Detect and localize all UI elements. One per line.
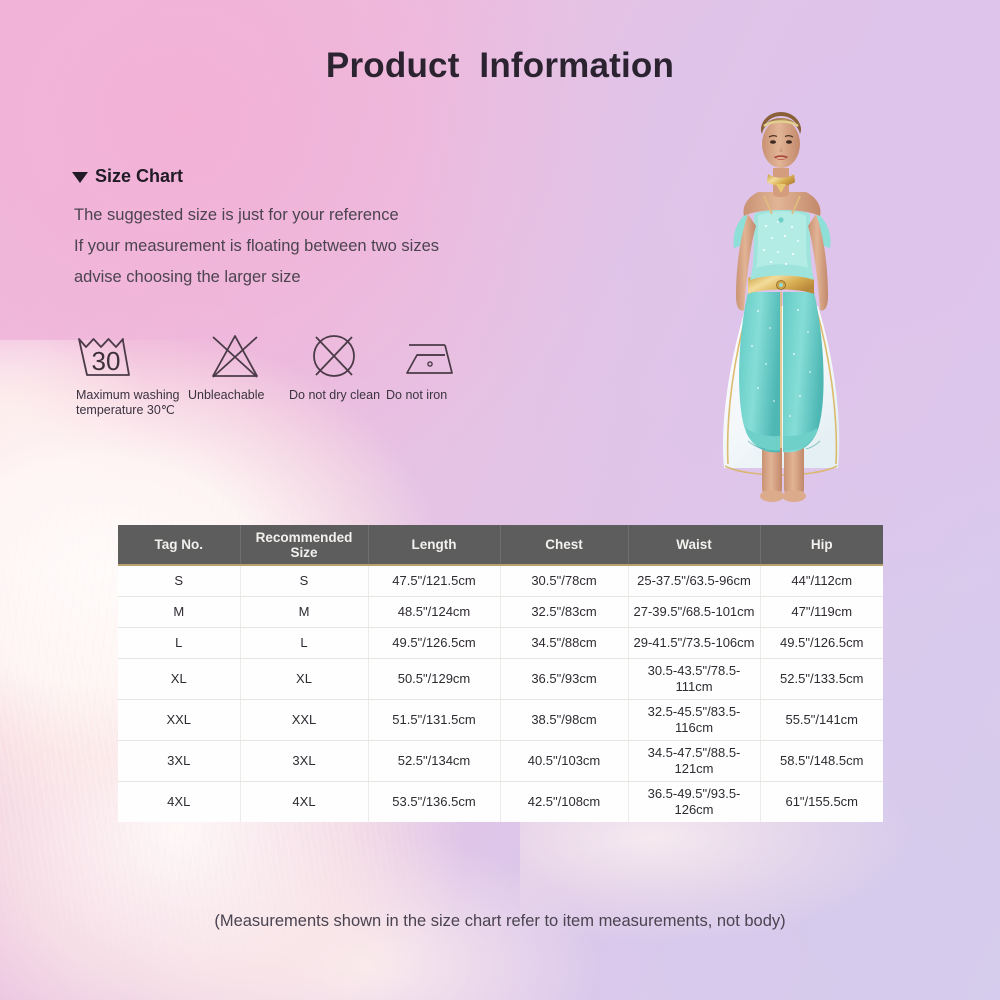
- care-symbol-label: Do not iron: [386, 388, 486, 403]
- cell-chest: 42.5"/108cm: [500, 781, 628, 822]
- cell-chest: 34.5"/88cm: [500, 627, 628, 658]
- product-model-image: [688, 96, 874, 516]
- svg-text:30: 30: [92, 346, 121, 376]
- caret-down-icon: [72, 172, 88, 183]
- column-header-chest: Chest: [500, 525, 628, 565]
- table-row: L L 49.5"/126.5cm 34.5"/88cm 29-41.5"/73…: [118, 627, 883, 658]
- care-symbol-label: Unbleachable: [188, 388, 289, 403]
- cell-waist: 34.5-47.5"/88.5-121cm: [628, 740, 760, 781]
- table-header-row: Tag No. Recommended Size Length Chest Wa…: [118, 525, 883, 565]
- size-chart-table-container: Tag No. Recommended Size Length Chest Wa…: [118, 525, 883, 822]
- table-row: S S 47.5"/121.5cm 30.5"/78cm 25-37.5"/63…: [118, 565, 883, 596]
- cell-waist: 32.5-45.5"/83.5-116cm: [628, 699, 760, 740]
- note-line: advise choosing the larger size: [74, 262, 634, 293]
- cell-length: 52.5"/134cm: [368, 740, 500, 781]
- cell-chest: 36.5"/93cm: [500, 658, 628, 699]
- cell-hip: 52.5"/133.5cm: [760, 658, 883, 699]
- cell-waist: 30.5-43.5"/78.5-111cm: [628, 658, 760, 699]
- cell-recommended-size: XXL: [240, 699, 368, 740]
- table-row: 3XL 3XL 52.5"/134cm 40.5"/103cm 34.5-47.…: [118, 740, 883, 781]
- cell-waist: 27-39.5"/68.5-101cm: [628, 596, 760, 627]
- column-header-hip: Hip: [760, 525, 883, 565]
- care-symbol-label: Do not dry clean: [289, 388, 386, 403]
- column-header-recommended-size: Recommended Size: [240, 525, 368, 565]
- cell-tag-no: XXL: [118, 699, 240, 740]
- cell-chest: 32.5"/83cm: [500, 596, 628, 627]
- note-line: The suggested size is just for your refe…: [74, 200, 634, 231]
- cell-length: 49.5"/126.5cm: [368, 627, 500, 658]
- cell-tag-no: M: [118, 596, 240, 627]
- cell-recommended-size: 4XL: [240, 781, 368, 822]
- care-symbol-bleach: Unbleachable: [188, 330, 289, 403]
- size-chart-notes: The suggested size is just for your refe…: [74, 200, 634, 293]
- care-symbols-row: 30 Maximum washing temperature 30℃ Unble…: [76, 330, 486, 418]
- cell-waist: 25-37.5"/63.5-96cm: [628, 565, 760, 596]
- cell-waist: 29-41.5"/73.5-106cm: [628, 627, 760, 658]
- cell-recommended-size: L: [240, 627, 368, 658]
- cell-waist: 36.5-49.5"/93.5-126cm: [628, 781, 760, 822]
- care-symbol-dry-clean: Do not dry clean: [289, 330, 386, 403]
- cell-length: 47.5"/121.5cm: [368, 565, 500, 596]
- care-symbol-wash: 30 Maximum washing temperature 30℃: [76, 330, 188, 418]
- cell-tag-no: 3XL: [118, 740, 240, 781]
- cell-recommended-size: M: [240, 596, 368, 627]
- cell-hip: 47"/119cm: [760, 596, 883, 627]
- column-header-tag-no: Tag No.: [118, 525, 240, 565]
- cell-chest: 38.5"/98cm: [500, 699, 628, 740]
- care-symbol-iron: Do not iron: [386, 330, 486, 403]
- cell-recommended-size: 3XL: [240, 740, 368, 781]
- table-row: 4XL 4XL 53.5"/136.5cm 42.5"/108cm 36.5-4…: [118, 781, 883, 822]
- column-header-length: Length: [368, 525, 500, 565]
- column-header-waist: Waist: [628, 525, 760, 565]
- cell-length: 50.5"/129cm: [368, 658, 500, 699]
- cell-hip: 61"/155.5cm: [760, 781, 883, 822]
- cell-length: 51.5"/131.5cm: [368, 699, 500, 740]
- cell-chest: 40.5"/103cm: [500, 740, 628, 781]
- no-bleach-icon: [188, 330, 289, 382]
- cell-hip: 44"/112cm: [760, 565, 883, 596]
- wash-tub-30-icon: 30: [76, 330, 188, 382]
- size-chart-table: Tag No. Recommended Size Length Chest Wa…: [118, 525, 883, 822]
- cell-length: 53.5"/136.5cm: [368, 781, 500, 822]
- size-chart-title: Size Chart: [95, 166, 183, 187]
- cell-hip: 55.5"/141cm: [760, 699, 883, 740]
- table-row: M M 48.5"/124cm 32.5"/83cm 27-39.5"/68.5…: [118, 596, 883, 627]
- cell-hip: 58.5"/148.5cm: [760, 740, 883, 781]
- size-chart-heading: Size Chart: [72, 166, 183, 187]
- do-not-iron-icon: [386, 330, 486, 382]
- cell-tag-no: S: [118, 565, 240, 596]
- page-title: Product Information: [0, 46, 1000, 86]
- cell-chest: 30.5"/78cm: [500, 565, 628, 596]
- cell-length: 48.5"/124cm: [368, 596, 500, 627]
- note-line: If your measurement is floating between …: [74, 231, 634, 262]
- cell-tag-no: L: [118, 627, 240, 658]
- cell-recommended-size: S: [240, 565, 368, 596]
- product-information-page: Product Information Size Chart The sugge…: [0, 0, 1000, 1000]
- no-dry-clean-icon: [289, 330, 386, 382]
- footer-measurement-note: (Measurements shown in the size chart re…: [0, 912, 1000, 931]
- care-symbol-label: Maximum washing temperature 30℃: [76, 388, 188, 418]
- table-row: XL XL 50.5"/129cm 36.5"/93cm 30.5-43.5"/…: [118, 658, 883, 699]
- cell-tag-no: 4XL: [118, 781, 240, 822]
- cell-tag-no: XL: [118, 658, 240, 699]
- table-row: XXL XXL 51.5"/131.5cm 38.5"/98cm 32.5-45…: [118, 699, 883, 740]
- cell-recommended-size: XL: [240, 658, 368, 699]
- cell-hip: 49.5"/126.5cm: [760, 627, 883, 658]
